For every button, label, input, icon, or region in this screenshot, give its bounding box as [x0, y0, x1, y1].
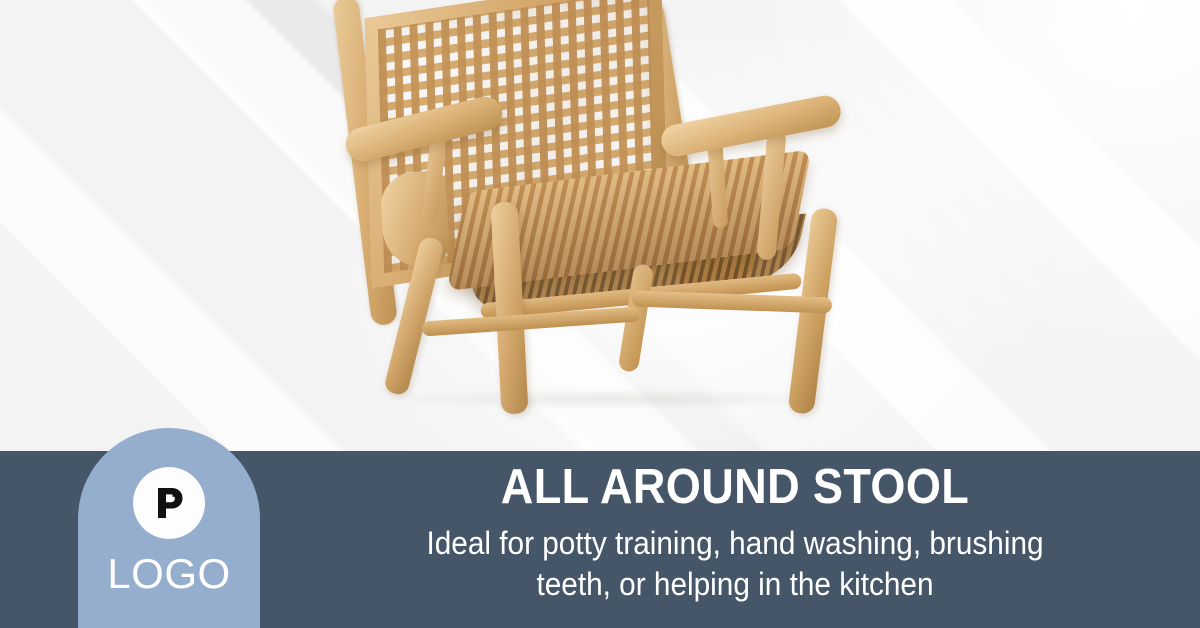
product-image — [330, 0, 930, 456]
subheadline: Ideal for potty training, hand washing, … — [330, 523, 1139, 605]
footer-copy: ALL AROUND STOOL Ideal for potty trainin… — [300, 463, 1170, 605]
chair-armrest-right — [659, 93, 844, 159]
logo-p-mark-icon — [133, 467, 205, 539]
product-ground-shadow — [390, 388, 830, 410]
headline: ALL AROUND STOOL — [335, 463, 1135, 512]
subheadline-line-2: teeth, or helping in the kitchen — [330, 564, 1139, 605]
product-banner: LOGO ALL AROUND STOOL Ideal for potty tr… — [0, 0, 1200, 628]
logo-badge[interactable]: LOGO — [78, 428, 260, 628]
logo-wordmark: LOGO — [107, 553, 230, 595]
subheadline-line-1: Ideal for potty training, hand washing, … — [330, 523, 1139, 564]
